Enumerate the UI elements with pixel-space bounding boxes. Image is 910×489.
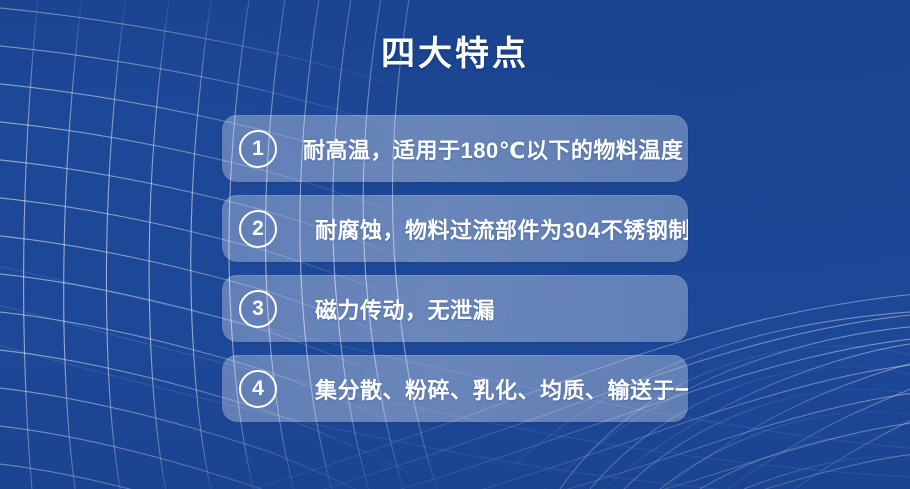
feature-text-3: 磁力传动，无泄漏 [315, 293, 495, 325]
feature-card-1[interactable]: 1 耐高温，适用于180℃以下的物料温度 [222, 115, 688, 182]
feature-number-badge-1: 1 [239, 130, 277, 168]
feature-number-badge-4: 4 [239, 370, 277, 408]
page-title: 四大特点 [0, 36, 910, 73]
feature-card-3[interactable]: 3 磁力传动，无泄漏 [222, 275, 688, 342]
feature-number-badge-2: 2 [239, 210, 277, 248]
feature-poster: 四大特点 1 耐高温，适用于180℃以下的物料温度 2 耐腐蚀，物料过流部件为3… [0, 0, 910, 489]
feature-card-2[interactable]: 2 耐腐蚀，物料过流部件为304不锈钢制造 [222, 195, 688, 262]
feature-text-1: 耐高温，适用于180℃以下的物料温度 [303, 133, 683, 165]
feature-list: 1 耐高温，适用于180℃以下的物料温度 2 耐腐蚀，物料过流部件为304不锈钢… [222, 115, 688, 435]
feature-text-4: 集分散、粉碎、乳化、均质、输送于一体 [315, 373, 688, 405]
feature-card-4[interactable]: 4 集分散、粉碎、乳化、均质、输送于一体 [222, 355, 688, 422]
feature-text-2: 耐腐蚀，物料过流部件为304不锈钢制造 [315, 213, 688, 245]
feature-number-badge-3: 3 [239, 290, 277, 328]
